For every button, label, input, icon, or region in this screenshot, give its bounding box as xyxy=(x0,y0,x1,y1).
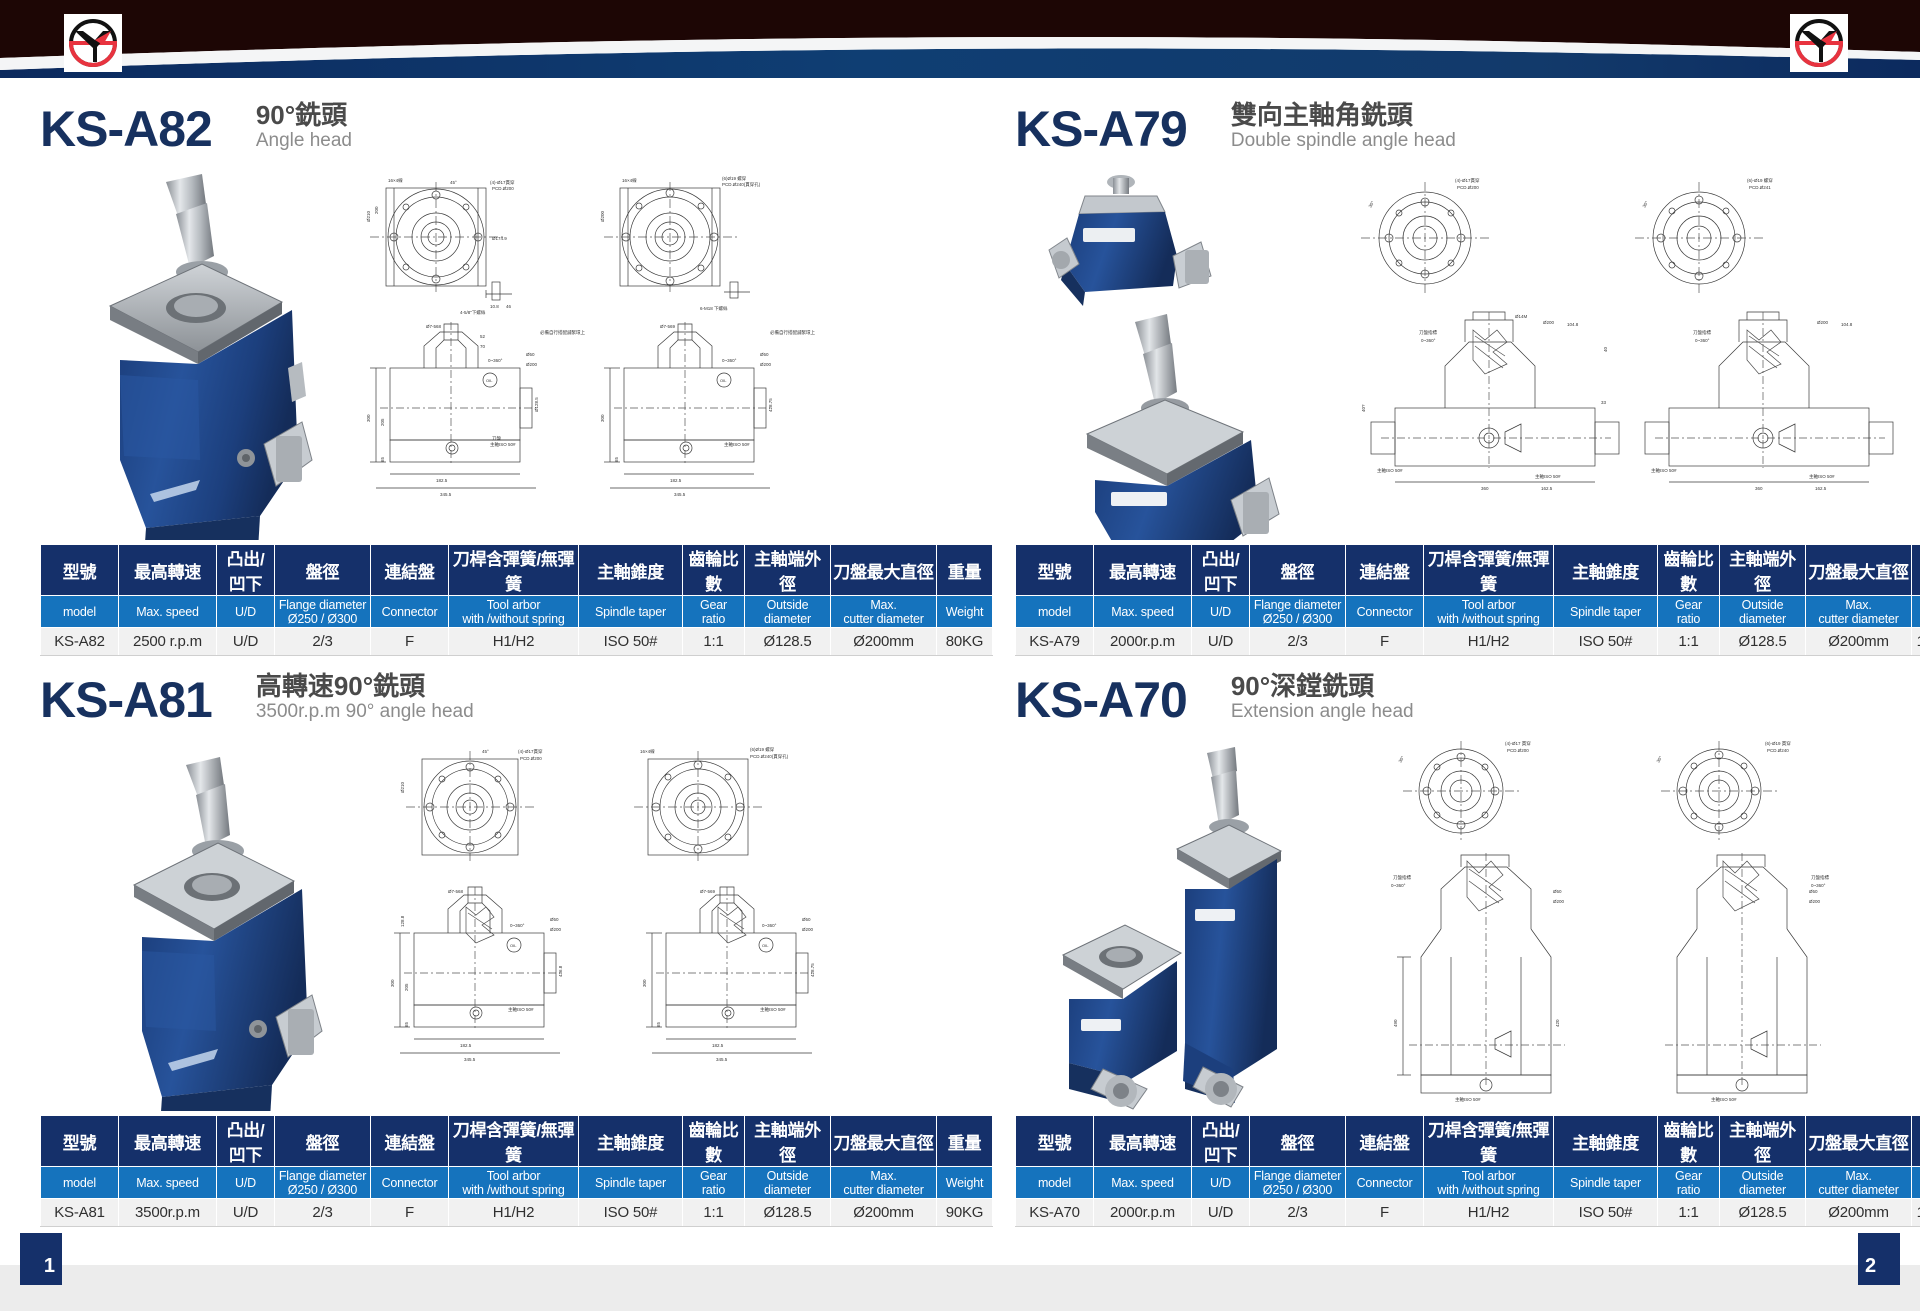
page-number-left: 1 xyxy=(20,1233,62,1285)
svg-text:345.5: 345.5 xyxy=(716,1057,728,1062)
th-cn-connector: 連結盤 xyxy=(371,545,449,596)
th-en-arbor: Tool arborwith /without spring xyxy=(1424,1167,1554,1199)
th-cn-outside: 主軸端外徑 xyxy=(1720,545,1806,596)
svg-text:(6)Ø19 螺穿: (6)Ø19 螺穿 xyxy=(722,175,747,182)
svg-text:0~360°: 0~360° xyxy=(762,923,777,928)
ks-a70-extension-angle-head-photo xyxy=(1025,731,1315,1111)
th-en-taper: Spindle taper xyxy=(1554,596,1658,628)
th-cn-arbor: 刀桿含彈簧/無彈簧 xyxy=(449,1116,579,1167)
th-cn-flange: 盤徑 xyxy=(1250,1116,1346,1167)
cell-speed: 2500 r.p.m xyxy=(119,628,217,656)
svg-text:(6)-Ø19 貫穿: (6)-Ø19 貫穿 xyxy=(1765,740,1791,747)
svg-text:428.75: 428.75 xyxy=(810,963,815,977)
svg-text:PCD.Ø240(貫穿孔): PCD.Ø240(貫穿孔) xyxy=(722,181,761,188)
th-cn-speed: 最高轉速 xyxy=(1094,545,1192,596)
product-title-row: KS-A82 90°銑頭 Angle head xyxy=(40,92,980,154)
svg-text:Ø210: Ø210 xyxy=(400,781,405,793)
svg-text:Ø210: Ø210 xyxy=(366,210,371,222)
product-block-ks-a81: KS-A81 高轉速90°銑頭 3500r.p.m 90° angle head xyxy=(40,663,980,1227)
svg-text:OIL: OIL xyxy=(762,943,769,948)
th-cn-model: 型號 xyxy=(41,1116,119,1167)
svg-text:Ø50: Ø50 xyxy=(550,917,559,922)
th-en-model: model xyxy=(41,1167,119,1199)
th-en-ud: U/D xyxy=(217,596,275,628)
th-cn-ud: 凸出/凹下 xyxy=(217,545,275,596)
th-en-taper: Spindle taper xyxy=(579,1167,683,1199)
svg-text:345.5: 345.5 xyxy=(464,1057,476,1062)
svg-text:128.8: 128.8 xyxy=(400,915,405,927)
svg-text:PCD.Ø200: PCD.Ø200 xyxy=(1507,748,1529,753)
svg-text:主軸ISO 50#: 主軸ISO 50# xyxy=(1535,473,1561,480)
svg-text:Ø50: Ø50 xyxy=(526,352,535,357)
spec-header-cn-row: 型號 最高轉速 凸出/凹下 盤徑 連結盤 刀桿含彈簧/無彈簧 主軸錐度 齒輪比數… xyxy=(41,545,993,596)
th-cn-gear: 齒輪比數 xyxy=(683,545,745,596)
th-en-gear: Gearratio xyxy=(1658,1167,1720,1199)
product-block-ks-a82: KS-A82 90°銑頭 Angle head xyxy=(40,92,980,656)
svg-text:PCD.Ø200: PCD.Ø200 xyxy=(520,756,542,761)
cell-weight: 100KG xyxy=(1912,628,1920,656)
cell-taper: ISO 50# xyxy=(1554,1199,1658,1227)
svg-text:52: 52 xyxy=(480,334,486,339)
svg-text:45°: 45° xyxy=(482,749,489,754)
th-cn-model: 型號 xyxy=(1016,545,1094,596)
svg-text:Ø50: Ø50 xyxy=(1553,889,1562,894)
svg-text:360: 360 xyxy=(1481,486,1489,491)
th-cn-outside: 主軸端外徑 xyxy=(745,545,831,596)
cell-cutter: Ø200mm xyxy=(1806,628,1912,656)
cell-ud: U/D xyxy=(217,628,275,656)
cell-flange: 2/3 xyxy=(275,1199,371,1227)
cell-connector: F xyxy=(1346,1199,1424,1227)
th-cn-weight: 重量 xyxy=(1912,545,1920,596)
svg-text:30°: 30° xyxy=(1368,200,1376,209)
svg-text:0~360°: 0~360° xyxy=(1421,338,1436,343)
table-row: KS-A70 2000r.p.m U/D 2/3 F H1/H2 ISO 50#… xyxy=(1016,1199,1920,1227)
th-cn-connector: 連結盤 xyxy=(371,1116,449,1167)
svg-text:0~360°: 0~360° xyxy=(510,923,525,928)
th-en-outside: Outsidediameter xyxy=(745,596,831,628)
th-cn-connector: 連結盤 xyxy=(1346,1116,1424,1167)
svg-text:刀盤指標: 刀盤指標 xyxy=(1419,329,1437,336)
svg-text:主軸ISO 50#: 主軸ISO 50# xyxy=(1377,467,1403,474)
svg-text:182.5: 182.5 xyxy=(712,1043,724,1048)
svg-text:Ø200: Ø200 xyxy=(550,927,562,932)
spec-header-en-row: model Max. speed U/D Flange diameterØ250… xyxy=(1016,596,1920,628)
cell-taper: ISO 50# xyxy=(579,1199,683,1227)
th-cn-flange: 盤徑 xyxy=(275,545,371,596)
table-row: KS-A81 3500r.p.m U/D 2/3 F H1/H2 ISO 50#… xyxy=(41,1199,993,1227)
cell-weight: 105KG xyxy=(1912,1199,1920,1227)
svg-text:(4)-Ø17貫穿: (4)-Ø17貫穿 xyxy=(490,179,515,186)
product-model-code: KS-A79 xyxy=(1015,104,1187,154)
th-en-connector: Connector xyxy=(371,596,449,628)
company-y-logo-icon xyxy=(1790,14,1848,72)
svg-text:PCD.Ø200: PCD.Ø200 xyxy=(492,186,514,191)
spec-header-en-row: model Max. speed U/D Flange diameterØ250… xyxy=(41,1167,993,1199)
ks-a81-high-speed-angle-head-photo xyxy=(50,731,340,1111)
product-title-row: KS-A79 雙向主軸角銑頭 Double spindle angle head xyxy=(1015,92,1920,154)
svg-text:162.5: 162.5 xyxy=(1815,486,1827,491)
svg-text:主軸ISO 50#: 主軸ISO 50# xyxy=(1651,467,1677,474)
cell-gear: 1:1 xyxy=(1658,628,1720,656)
th-en-speed: Max. speed xyxy=(119,596,217,628)
product-block-ks-a70: KS-A70 90°深鏜銑頭 Extension angle head xyxy=(1015,663,1920,1227)
svg-text:PCD.Ø241: PCD.Ø241 xyxy=(1749,185,1771,190)
svg-text:Ø200: Ø200 xyxy=(802,927,814,932)
svg-text:Ø7-568: Ø7-568 xyxy=(448,889,464,894)
th-en-model: model xyxy=(41,596,119,628)
th-en-speed: Max. speed xyxy=(1094,596,1192,628)
svg-text:0~360°: 0~360° xyxy=(722,358,737,363)
product-title-cn: 90°深鏜銑頭 xyxy=(1231,672,1414,701)
th-en-connector: Connector xyxy=(1346,596,1424,628)
cell-outside: Ø128.5 xyxy=(1720,1199,1806,1227)
svg-text:OIL: OIL xyxy=(486,378,493,383)
svg-text:46: 46 xyxy=(506,304,512,309)
th-cn-gear: 齒輪比數 xyxy=(1658,545,1720,596)
svg-text:Ø7-569: Ø7-569 xyxy=(700,889,716,894)
svg-text:Ø200: Ø200 xyxy=(600,210,605,222)
svg-text:40: 40 xyxy=(1603,346,1608,352)
product-model-code: KS-A70 xyxy=(1015,675,1187,725)
th-en-gear: Gearratio xyxy=(683,596,745,628)
svg-text:16×4線: 16×4線 xyxy=(622,177,637,183)
th-en-flange: Flange diameterØ250 / Ø300 xyxy=(1250,1167,1346,1199)
th-en-cutter: Max.cutter diameter xyxy=(1806,596,1912,628)
svg-text:Ø200: Ø200 xyxy=(1543,320,1555,325)
svg-text:主軸ISO 50#: 主軸ISO 50# xyxy=(508,1006,534,1013)
cell-connector: F xyxy=(371,628,449,656)
svg-text:162.5: 162.5 xyxy=(1541,486,1553,491)
svg-text:65: 65 xyxy=(404,1021,409,1027)
svg-text:436.8: 436.8 xyxy=(558,965,563,977)
svg-text:10.8: 10.8 xyxy=(490,304,499,309)
th-en-flange: Flange diameterØ250 / Ø300 xyxy=(1250,596,1346,628)
svg-text:65: 65 xyxy=(656,1021,661,1027)
th-en-weight: Weight xyxy=(1912,1167,1920,1199)
svg-text:Ø200: Ø200 xyxy=(526,362,538,367)
svg-text:182.5: 182.5 xyxy=(670,478,682,483)
th-en-ud: U/D xyxy=(1192,596,1250,628)
svg-text:490: 490 xyxy=(1393,1019,1398,1027)
cell-ud: U/D xyxy=(1192,628,1250,656)
th-cn-taper: 主軸錐度 xyxy=(1554,545,1658,596)
svg-text:45°: 45° xyxy=(450,180,457,185)
cell-arbor: H1/H2 xyxy=(1424,628,1554,656)
cell-ud: U/D xyxy=(1192,1199,1250,1227)
product-figure-area: 16×4線 45° (4)-Ø17貫穿 PCD.Ø200 Ø210 200 Ø1… xyxy=(40,160,980,540)
spec-header-cn-row: 型號 最高轉速 凸出/凹下 盤徑 連結盤 刀桿含彈簧/無彈簧 主軸錐度 齒輪比數… xyxy=(41,1116,993,1167)
cell-outside: Ø128.5 xyxy=(1720,628,1806,656)
cell-weight: 80KG xyxy=(937,628,993,656)
table-row: KS-A79 2000r.p.m U/D 2/3 F H1/H2 ISO 50#… xyxy=(1016,628,1920,656)
th-en-flange: Flange diameterØ250 / Ø300 xyxy=(275,1167,371,1199)
svg-text:6-M18 下螺絲: 6-M18 下螺絲 xyxy=(700,305,728,312)
product-title-en: 3500r.p.m 90° angle head xyxy=(256,701,474,724)
svg-text:PCD.Ø200: PCD.Ø200 xyxy=(1457,185,1479,190)
ks-a70-technical-drawing: (4)-Ø17 貫穿 PCD.Ø200 30° (6)-Ø19 貫穿 PCD.Ø… xyxy=(1315,733,1920,1111)
brand-logo-right xyxy=(1790,14,1848,72)
cell-cutter: Ø200mm xyxy=(1806,1199,1912,1227)
cell-arbor: H1/H2 xyxy=(449,1199,579,1227)
th-cn-weight: 重量 xyxy=(937,1116,993,1167)
product-title-en: Angle head xyxy=(256,130,352,153)
th-en-connector: Connector xyxy=(371,1167,449,1199)
svg-text:(4)-Ø17貫穿: (4)-Ø17貫穿 xyxy=(1455,177,1480,184)
cell-connector: F xyxy=(1346,628,1424,656)
product-title-cn: 高轉速90°銑頭 xyxy=(256,672,474,701)
svg-text:420: 420 xyxy=(1555,1019,1560,1027)
svg-text:16×4線: 16×4線 xyxy=(640,748,655,754)
cell-speed: 2000r.p.m xyxy=(1094,628,1192,656)
th-en-cutter: Max.cutter diameter xyxy=(831,596,937,628)
spec-table-ks-a79: 型號 最高轉速 凸出/凹下 盤徑 連結盤 刀桿含彈簧/無彈簧 主軸錐度 齒輪比數… xyxy=(1015,544,1920,656)
svg-text:300: 300 xyxy=(642,979,647,987)
product-title-en: Double spindle angle head xyxy=(1231,130,1456,153)
svg-text:Ø50: Ø50 xyxy=(760,352,769,357)
spec-header-en-row: model Max. speed U/D Flange diameterØ250… xyxy=(1016,1167,1920,1199)
svg-text:Ø50: Ø50 xyxy=(802,917,811,922)
product-title-row: KS-A81 高轉速90°銑頭 3500r.p.m 90° angle head xyxy=(40,663,980,725)
svg-text:Ø200: Ø200 xyxy=(1553,899,1565,904)
cell-outside: Ø128.5 xyxy=(745,628,831,656)
product-block-ks-a79: KS-A79 雙向主軸角銑頭 Double spindle angle head xyxy=(1015,92,1920,656)
th-en-gear: Gearratio xyxy=(1658,596,1720,628)
th-en-weight: Weight xyxy=(1912,596,1920,628)
svg-text:345.5: 345.5 xyxy=(674,492,686,497)
svg-text:70: 70 xyxy=(480,344,486,349)
svg-text:4-5/8"下螺絲: 4-5/8"下螺絲 xyxy=(460,309,486,316)
th-en-gear: Gearratio xyxy=(683,1167,745,1199)
svg-text:必備自行搭配舖緊環上: 必備自行搭配舖緊環上 xyxy=(770,329,815,336)
company-y-logo-icon xyxy=(64,14,122,72)
th-cn-ud: 凸出/凹下 xyxy=(1192,545,1250,596)
th-cn-cutter: 刀盤最大直徑 xyxy=(831,545,937,596)
page-footer: 1 2 xyxy=(0,1233,1920,1311)
footer-band xyxy=(0,1265,1920,1311)
ks-a79-technical-drawing: (4)-Ø17貫穿 PCD.Ø200 30° (6)-Ø19 螺穿 PCD.Ø2… xyxy=(1315,162,1920,540)
cell-flange: 2/3 xyxy=(275,628,371,656)
svg-text:300: 300 xyxy=(366,414,371,422)
th-cn-connector: 連結盤 xyxy=(1346,545,1424,596)
svg-text:182.5: 182.5 xyxy=(436,478,448,483)
svg-text:刀盤指標: 刀盤指標 xyxy=(1393,874,1411,881)
th-cn-model: 型號 xyxy=(1016,1116,1094,1167)
svg-text:主軸ISO 50#: 主軸ISO 50# xyxy=(724,441,750,448)
page-number-right: 2 xyxy=(1858,1233,1900,1285)
th-cn-flange: 盤徑 xyxy=(275,1116,371,1167)
svg-text:0~360°: 0~360° xyxy=(1391,883,1406,888)
th-cn-cutter: 刀盤最大直徑 xyxy=(1806,545,1912,596)
svg-text:300: 300 xyxy=(600,414,605,422)
svg-text:(6)Ø19 螺穿: (6)Ø19 螺穿 xyxy=(750,746,775,753)
ks-a79-double-spindle-photo xyxy=(1025,160,1315,540)
cell-gear: 1:1 xyxy=(1658,1199,1720,1227)
spec-table-ks-a70: 型號 最高轉速 凸出/凹下 盤徑 連結盤 刀桿含彈簧/無彈簧 主軸錐度 齒輪比數… xyxy=(1015,1115,1920,1227)
svg-text:(4)-Ø17貫穿: (4)-Ø17貫穿 xyxy=(518,748,543,755)
svg-text:PCD.Ø240(貫穿孔): PCD.Ø240(貫穿孔) xyxy=(750,753,789,760)
th-cn-taper: 主軸錐度 xyxy=(1554,1116,1658,1167)
ks-a82-angle-head-photo xyxy=(50,160,340,540)
th-en-ud: U/D xyxy=(217,1167,275,1199)
svg-text:428.75: 428.75 xyxy=(768,398,773,412)
cell-model: KS-A79 xyxy=(1016,628,1094,656)
cell-speed: 3500r.p.m xyxy=(119,1199,217,1227)
th-en-speed: Max. speed xyxy=(119,1167,217,1199)
th-cn-speed: 最高轉速 xyxy=(119,1116,217,1167)
cell-arbor: H1/H2 xyxy=(449,628,579,656)
svg-text:Ø128.5: Ø128.5 xyxy=(534,397,539,412)
svg-text:必備自行搭配舖緊環上: 必備自行搭配舖緊環上 xyxy=(540,329,585,336)
th-en-weight: Weight xyxy=(937,596,993,628)
th-en-taper: Spindle taper xyxy=(579,596,683,628)
spec-header-cn-row: 型號 最高轉速 凸出/凹下 盤徑 連結盤 刀桿含彈簧/無彈簧 主軸錐度 齒輪比數… xyxy=(1016,545,1920,596)
catalog-sheet: KS-A82 90°銑頭 Angle head xyxy=(0,78,1920,1233)
spec-table-ks-a81: 型號 最高轉速 凸出/凹下 盤徑 連結盤 刀桿含彈簧/無彈簧 主軸錐度 齒輪比數… xyxy=(40,1115,993,1227)
th-cn-taper: 主軸錐度 xyxy=(579,1116,683,1167)
th-en-flange: Flange diameterØ250 / Ø300 xyxy=(275,596,371,628)
th-en-outside: Outsidediameter xyxy=(1720,1167,1806,1199)
svg-text:主軸ISO 50#: 主軸ISO 50# xyxy=(760,1006,786,1013)
th-cn-weight: 重量 xyxy=(1912,1116,1920,1167)
th-en-ud: U/D xyxy=(1192,1167,1250,1199)
svg-text:刀盤: 刀盤 xyxy=(492,435,501,442)
product-title-en: Extension angle head xyxy=(1231,701,1414,724)
svg-text:主軸ISO 50#: 主軸ISO 50# xyxy=(490,441,516,448)
th-cn-ud: 凸出/凹下 xyxy=(1192,1116,1250,1167)
product-title-cn: 90°銑頭 xyxy=(256,101,352,130)
cell-cutter: Ø200mm xyxy=(831,1199,937,1227)
svg-text:Ø50: Ø50 xyxy=(1809,889,1818,894)
cell-model: KS-A82 xyxy=(41,628,119,656)
svg-text:OIL: OIL xyxy=(720,378,727,383)
svg-text:33: 33 xyxy=(1601,400,1607,405)
cell-weight: 90KG xyxy=(937,1199,993,1227)
page-header-banner xyxy=(0,0,1920,78)
svg-text:Ø200: Ø200 xyxy=(1817,320,1829,325)
product-figure-area: (4)-Ø17 貫穿 PCD.Ø200 30° (6)-Ø19 貫穿 PCD.Ø… xyxy=(1015,731,1920,1111)
cell-arbor: H1/H2 xyxy=(1424,1199,1554,1227)
cell-speed: 2000r.p.m xyxy=(1094,1199,1192,1227)
th-cn-taper: 主軸錐度 xyxy=(579,545,683,596)
th-en-taper: Spindle taper xyxy=(1554,1167,1658,1199)
th-cn-cutter: 刀盤最大直徑 xyxy=(831,1116,937,1167)
th-cn-outside: 主軸端外徑 xyxy=(1720,1116,1806,1167)
cell-model: KS-A70 xyxy=(1016,1199,1094,1227)
cell-taper: ISO 50# xyxy=(1554,628,1658,656)
th-en-model: model xyxy=(1016,1167,1094,1199)
th-cn-arbor: 刀桿含彈簧/無彈簧 xyxy=(1424,545,1554,596)
th-cn-speed: 最高轉速 xyxy=(1094,1116,1192,1167)
svg-text:0~360°: 0~360° xyxy=(1695,338,1710,343)
th-cn-cutter: 刀盤最大直徑 xyxy=(1806,1116,1912,1167)
th-en-cutter: Max.cutter diameter xyxy=(1806,1167,1912,1199)
cell-ud: U/D xyxy=(217,1199,275,1227)
svg-text:16×4線: 16×4線 xyxy=(388,177,403,183)
cell-flange: 2/3 xyxy=(1250,628,1346,656)
svg-text:主軸ISO 50#: 主軸ISO 50# xyxy=(1809,473,1835,480)
svg-text:182.5: 182.5 xyxy=(460,1043,472,1048)
svg-text:Ø14M: Ø14M xyxy=(1515,314,1528,319)
th-cn-flange: 盤徑 xyxy=(1250,545,1346,596)
svg-text:360: 360 xyxy=(1755,486,1763,491)
svg-text:104.8: 104.8 xyxy=(1567,322,1579,327)
svg-text:(4)-Ø17 貫穿: (4)-Ø17 貫穿 xyxy=(1505,740,1531,747)
svg-text:40?: 40? xyxy=(1361,404,1366,412)
svg-text:Ø174.9: Ø174.9 xyxy=(492,236,507,241)
product-model-code: KS-A82 xyxy=(40,104,212,154)
th-cn-weight: 重量 xyxy=(937,545,993,596)
svg-text:Ø7-568: Ø7-568 xyxy=(426,324,442,329)
th-cn-gear: 齒輪比數 xyxy=(1658,1116,1720,1167)
th-cn-model: 型號 xyxy=(41,545,119,596)
spec-header-cn-row: 型號 最高轉速 凸出/凹下 盤徑 連結盤 刀桿含彈簧/無彈簧 主軸錐度 齒輪比數… xyxy=(1016,1116,1920,1167)
spec-table-ks-a82: 型號 最高轉速 凸出/凹下 盤徑 連結盤 刀桿含彈簧/無彈簧 主軸錐度 齒輪比數… xyxy=(40,544,993,656)
table-row: KS-A82 2500 r.p.m U/D 2/3 F H1/H2 ISO 50… xyxy=(41,628,993,656)
svg-text:PCD.Ø240: PCD.Ø240 xyxy=(1767,748,1789,753)
th-en-outside: Outsidediameter xyxy=(1720,596,1806,628)
svg-text:30°: 30° xyxy=(1398,755,1406,764)
th-cn-gear: 齒輪比數 xyxy=(683,1116,745,1167)
svg-text:主軸ISO 50#: 主軸ISO 50# xyxy=(1711,1096,1737,1103)
svg-text:30°: 30° xyxy=(1642,200,1650,209)
th-en-model: model xyxy=(1016,596,1094,628)
svg-text:30°: 30° xyxy=(1656,755,1664,764)
th-cn-arbor: 刀桿含彈簧/無彈簧 xyxy=(449,545,579,596)
product-title-cn: 雙向主軸角銑頭 xyxy=(1231,101,1456,130)
th-cn-arbor: 刀桿含彈簧/無彈簧 xyxy=(1424,1116,1554,1167)
th-en-connector: Connector xyxy=(1346,1167,1424,1199)
svg-text:104.8: 104.8 xyxy=(1841,322,1853,327)
svg-text:Ø200: Ø200 xyxy=(1809,899,1821,904)
svg-text:300: 300 xyxy=(390,979,395,987)
svg-text:(6)-Ø19 螺穿: (6)-Ø19 螺穿 xyxy=(1747,177,1773,184)
svg-text:0~360°: 0~360° xyxy=(1811,883,1826,888)
svg-text:200: 200 xyxy=(374,206,379,214)
brand-logo-left xyxy=(64,14,122,72)
svg-text:OIL: OIL xyxy=(510,943,517,948)
cell-cutter: Ø200mm xyxy=(831,628,937,656)
th-cn-speed: 最高轉速 xyxy=(119,545,217,596)
th-en-cutter: Max.cutter diameter xyxy=(831,1167,937,1199)
svg-text:刀盤指標: 刀盤指標 xyxy=(1693,329,1711,336)
th-cn-ud: 凸出/凹下 xyxy=(217,1116,275,1167)
svg-text:205: 205 xyxy=(404,983,409,991)
th-en-outside: Outsidediameter xyxy=(745,1167,831,1199)
ks-a81-technical-drawing: 45° (4)-Ø17貫穿 PCD.Ø200 Ø210 16×4線 (6)Ø19… xyxy=(340,733,980,1111)
product-figure-area: 45° (4)-Ø17貫穿 PCD.Ø200 Ø210 16×4線 (6)Ø19… xyxy=(40,731,980,1111)
th-en-speed: Max. speed xyxy=(1094,1167,1192,1199)
svg-text:主軸ISO 50#: 主軸ISO 50# xyxy=(1455,1096,1481,1103)
product-title-row: KS-A70 90°深鏜銑頭 Extension angle head xyxy=(1015,663,1920,725)
th-en-arbor: Tool arborwith /without spring xyxy=(449,596,579,628)
ks-a82-technical-drawing: 16×4線 45° (4)-Ø17貫穿 PCD.Ø200 Ø210 200 Ø1… xyxy=(340,162,980,540)
svg-text:刀盤指標: 刀盤指標 xyxy=(1811,874,1829,881)
th-en-arbor: Tool arborwith /without spring xyxy=(1424,596,1554,628)
cell-flange: 2/3 xyxy=(1250,1199,1346,1227)
svg-text:0~360°: 0~360° xyxy=(488,358,503,363)
svg-text:65: 65 xyxy=(614,456,619,462)
cell-gear: 1:1 xyxy=(683,628,745,656)
svg-text:Ø200: Ø200 xyxy=(760,362,772,367)
product-model-code: KS-A81 xyxy=(40,675,212,725)
svg-text:345.5: 345.5 xyxy=(440,492,452,497)
cell-taper: ISO 50# xyxy=(579,628,683,656)
cell-gear: 1:1 xyxy=(683,1199,745,1227)
th-en-arbor: Tool arborwith /without spring xyxy=(449,1167,579,1199)
svg-text:Ø7-569: Ø7-569 xyxy=(660,324,676,329)
cell-connector: F xyxy=(371,1199,449,1227)
